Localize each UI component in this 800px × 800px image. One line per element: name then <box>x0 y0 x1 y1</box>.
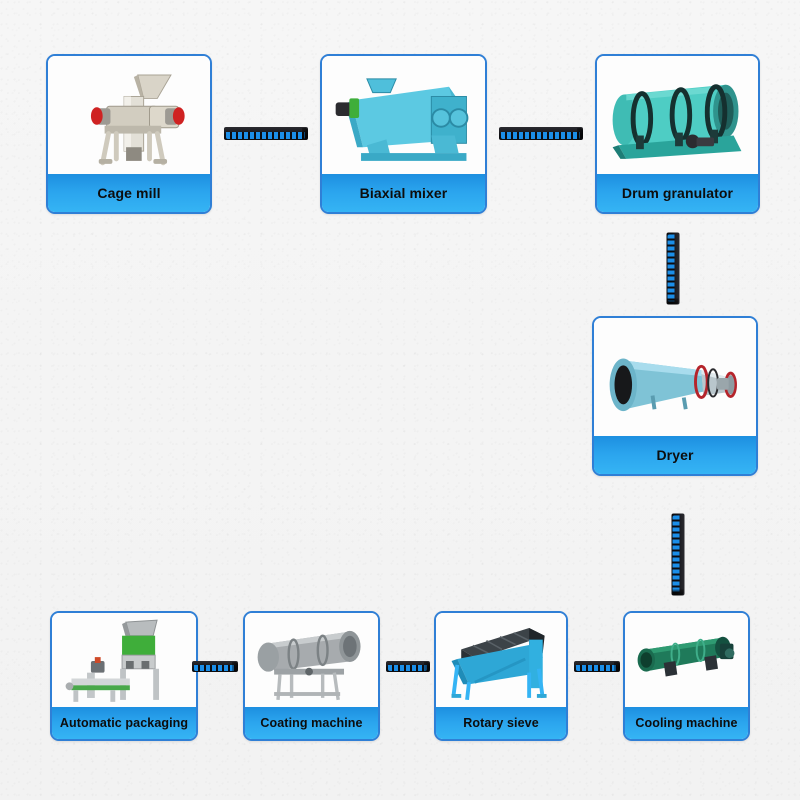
belt-teeth <box>501 132 580 139</box>
cage-mill-illustration <box>48 56 210 176</box>
conveyor-belt-icon-conn-3 <box>667 233 680 305</box>
belt-shade <box>667 299 678 305</box>
dryer-image <box>594 318 756 438</box>
belt-shade <box>424 662 430 671</box>
dryer-illustration <box>594 318 756 438</box>
step-card-coating-machine[interactable]: Coating machine <box>243 611 380 741</box>
cooling-machine-image <box>625 613 748 709</box>
belt-shade <box>672 590 683 596</box>
step-card-cage-mill[interactable]: Cage mill <box>46 54 212 214</box>
step-label-cage-mill: Cage mill <box>48 174 210 212</box>
step-label-cooling-machine: Cooling machine <box>625 707 748 739</box>
automatic-packaging-image <box>52 613 196 709</box>
automatic-packaging-illustration <box>52 613 196 709</box>
belt-teeth <box>226 132 305 139</box>
belt-shade <box>614 662 620 671</box>
step-label-automatic-packaging: Automatic packaging <box>52 707 196 739</box>
process-flow-diagram: Cage mill Biaxial mixer <box>0 0 800 800</box>
coating-machine-image <box>245 613 378 709</box>
conveyor-belt-icon-conn-7 <box>192 661 238 672</box>
rotary-sieve-image <box>436 613 566 709</box>
step-label-rotary-sieve: Rotary sieve <box>436 707 566 739</box>
step-card-drum-granulator[interactable]: Drum granulator <box>595 54 760 214</box>
coating-machine-illustration <box>245 613 378 709</box>
drum-granulator-image <box>597 56 758 176</box>
belt-shade <box>232 662 238 671</box>
cooling-machine-illustration <box>625 613 748 709</box>
belt-teeth <box>576 665 617 671</box>
biaxial-mixer-image <box>322 56 485 176</box>
step-card-automatic-packaging[interactable]: Automatic packaging <box>50 611 198 741</box>
step-card-dryer[interactable]: Dryer <box>592 316 758 476</box>
step-label-dryer: Dryer <box>594 436 756 474</box>
conveyor-belt-icon-conn-6 <box>386 661 430 672</box>
belt-shade <box>302 128 308 139</box>
biaxial-mixer-illustration <box>322 56 485 176</box>
cage-mill-image <box>48 56 210 176</box>
belt-teeth <box>673 516 680 593</box>
step-label-drum-granulator: Drum granulator <box>597 174 758 212</box>
rotary-sieve-illustration <box>436 613 566 709</box>
belt-shade <box>577 128 583 139</box>
conveyor-belt-icon-conn-5 <box>574 661 620 672</box>
step-label-coating-machine: Coating machine <box>245 707 378 739</box>
conveyor-belt-icon-conn-2 <box>499 127 583 140</box>
belt-teeth <box>668 235 675 302</box>
belt-teeth <box>388 665 427 671</box>
step-label-biaxial-mixer: Biaxial mixer <box>322 174 485 212</box>
step-card-rotary-sieve[interactable]: Rotary sieve <box>434 611 568 741</box>
belt-teeth <box>194 665 235 671</box>
step-card-biaxial-mixer[interactable]: Biaxial mixer <box>320 54 487 214</box>
drum-granulator-illustration <box>597 56 758 176</box>
conveyor-belt-icon-conn-1 <box>224 127 308 140</box>
step-card-cooling-machine[interactable]: Cooling machine <box>623 611 750 741</box>
conveyor-belt-icon-conn-4 <box>672 514 685 596</box>
